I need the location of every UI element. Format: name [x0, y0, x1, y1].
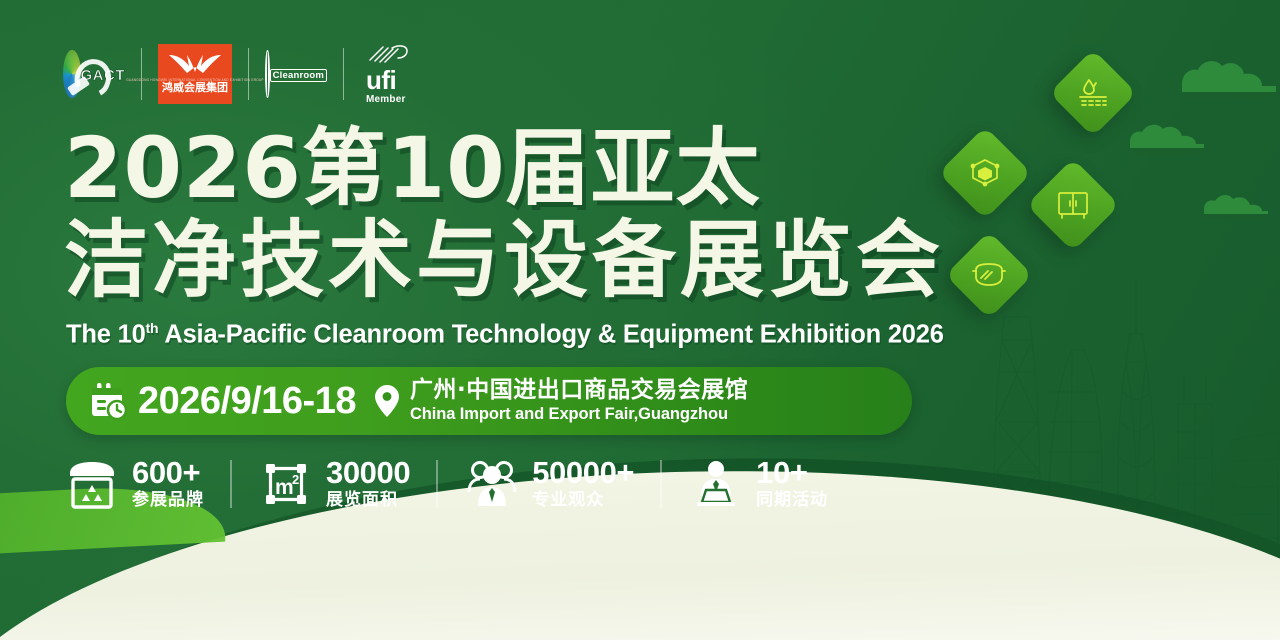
presenter-laptop-icon — [688, 458, 744, 510]
svg-text:m: m — [275, 476, 294, 499]
cloud-medium-icon — [1128, 122, 1206, 154]
stats-row: 600+ 参展品牌 m 2 30000 展览面积 — [64, 446, 828, 522]
ufi-wordmark: ufi — [366, 68, 412, 93]
headline: 2026第10届亚太 洁净技术与设备展览会 — [64, 126, 944, 303]
stat-exhibitor-brands: 600+ 参展品牌 — [64, 457, 204, 510]
logo-hongwei[interactable]: GUANGDONG HONGWEI INTERNATIONAL CONVENTI… — [158, 44, 232, 104]
clean-cabinet-icon-tile — [1026, 158, 1119, 251]
audience-group-icon — [464, 458, 520, 510]
stat-label: 展览面积 — [326, 491, 410, 511]
hongwei-cn: 鸿威会展集团 — [162, 83, 228, 94]
cube-network-icon-tile — [938, 126, 1031, 219]
date-venue-pill: 2026/9/16-18 广州·中国进出口商品交易会展馆 China Impor… — [66, 367, 912, 435]
logo-cleanroom[interactable]: Cleanroom — [265, 50, 327, 98]
cloud-large-icon — [1180, 58, 1278, 98]
water-filter-icon — [1076, 76, 1110, 110]
exhibition-banner: GACT GUANGDONG HONGWEI INTERNATIONAL CON… — [0, 0, 1280, 640]
calendar-clock-icon — [88, 381, 128, 421]
logo-divider — [248, 48, 249, 100]
stat-number: 10+ — [756, 457, 828, 489]
stat-label: 专业观众 — [532, 491, 634, 511]
stat-number: 30000 — [326, 457, 410, 489]
stat-divider — [436, 460, 438, 508]
ufi-member-label: Member — [366, 94, 412, 105]
stat-number: 50000+ — [532, 457, 634, 489]
stat-professional-visitors: 50000+ 专业观众 — [464, 457, 634, 510]
stat-label: 参展品牌 — [132, 491, 204, 511]
stat-divider — [660, 460, 662, 508]
subtitle-suffix: Asia-Pacific Cleanroom Technology & Equi… — [158, 321, 943, 349]
venue-name-cn: 广州·中国进出口商品交易会展馆 — [410, 378, 748, 404]
stat-exhibition-area: m 2 30000 展览面积 — [258, 457, 410, 510]
subtitle-english: The 10th Asia-Pacific Cleanroom Technolo… — [66, 320, 944, 350]
cube-network-icon — [967, 155, 1003, 191]
cleanroom-wordmark: Cleanroom — [270, 69, 327, 82]
svg-text:2: 2 — [292, 472, 299, 487]
logo-gact[interactable]: GACT — [63, 50, 125, 98]
shop-recycle-icon — [64, 458, 120, 510]
logo-strip: GACT GUANGDONG HONGWEI INTERNATIONAL CON… — [63, 38, 418, 110]
goggles-icon — [971, 262, 1007, 288]
cloud-small-icon — [1202, 192, 1270, 220]
logo-ufi[interactable]: ufi Member — [360, 43, 418, 105]
stat-divider — [230, 460, 232, 508]
square-meter-icon: m 2 — [258, 458, 314, 510]
headline-line-1: 2026第10届亚太 — [64, 126, 944, 212]
stat-concurrent-events: 10+ 同期活动 — [688, 457, 828, 510]
headline-line-2: 洁净技术与设备展览会 — [64, 218, 944, 304]
event-date: 2026/9/16-18 — [138, 380, 356, 423]
logo-divider — [141, 48, 142, 100]
ufi-swoosh-icon — [366, 43, 412, 63]
clean-cabinet-icon — [1055, 189, 1091, 221]
cleanroom-circle-icon — [265, 50, 270, 98]
venue-block: 广州·中国进出口商品交易会展馆 China Import and Export … — [410, 378, 748, 424]
stat-label: 同期活动 — [756, 491, 828, 511]
water-filter-icon-tile — [1049, 49, 1137, 137]
subtitle-prefix: The 10 — [66, 321, 146, 349]
logo-divider — [343, 48, 344, 100]
wings-w-icon — [167, 50, 223, 76]
globe-orb-icon — [63, 50, 81, 98]
venue-name-en: China Import and Export Fair,Guangzhou — [410, 405, 748, 424]
subtitle-ordinal: th — [146, 320, 159, 336]
stat-number: 600+ — [132, 457, 204, 489]
map-pin-icon — [374, 384, 400, 418]
